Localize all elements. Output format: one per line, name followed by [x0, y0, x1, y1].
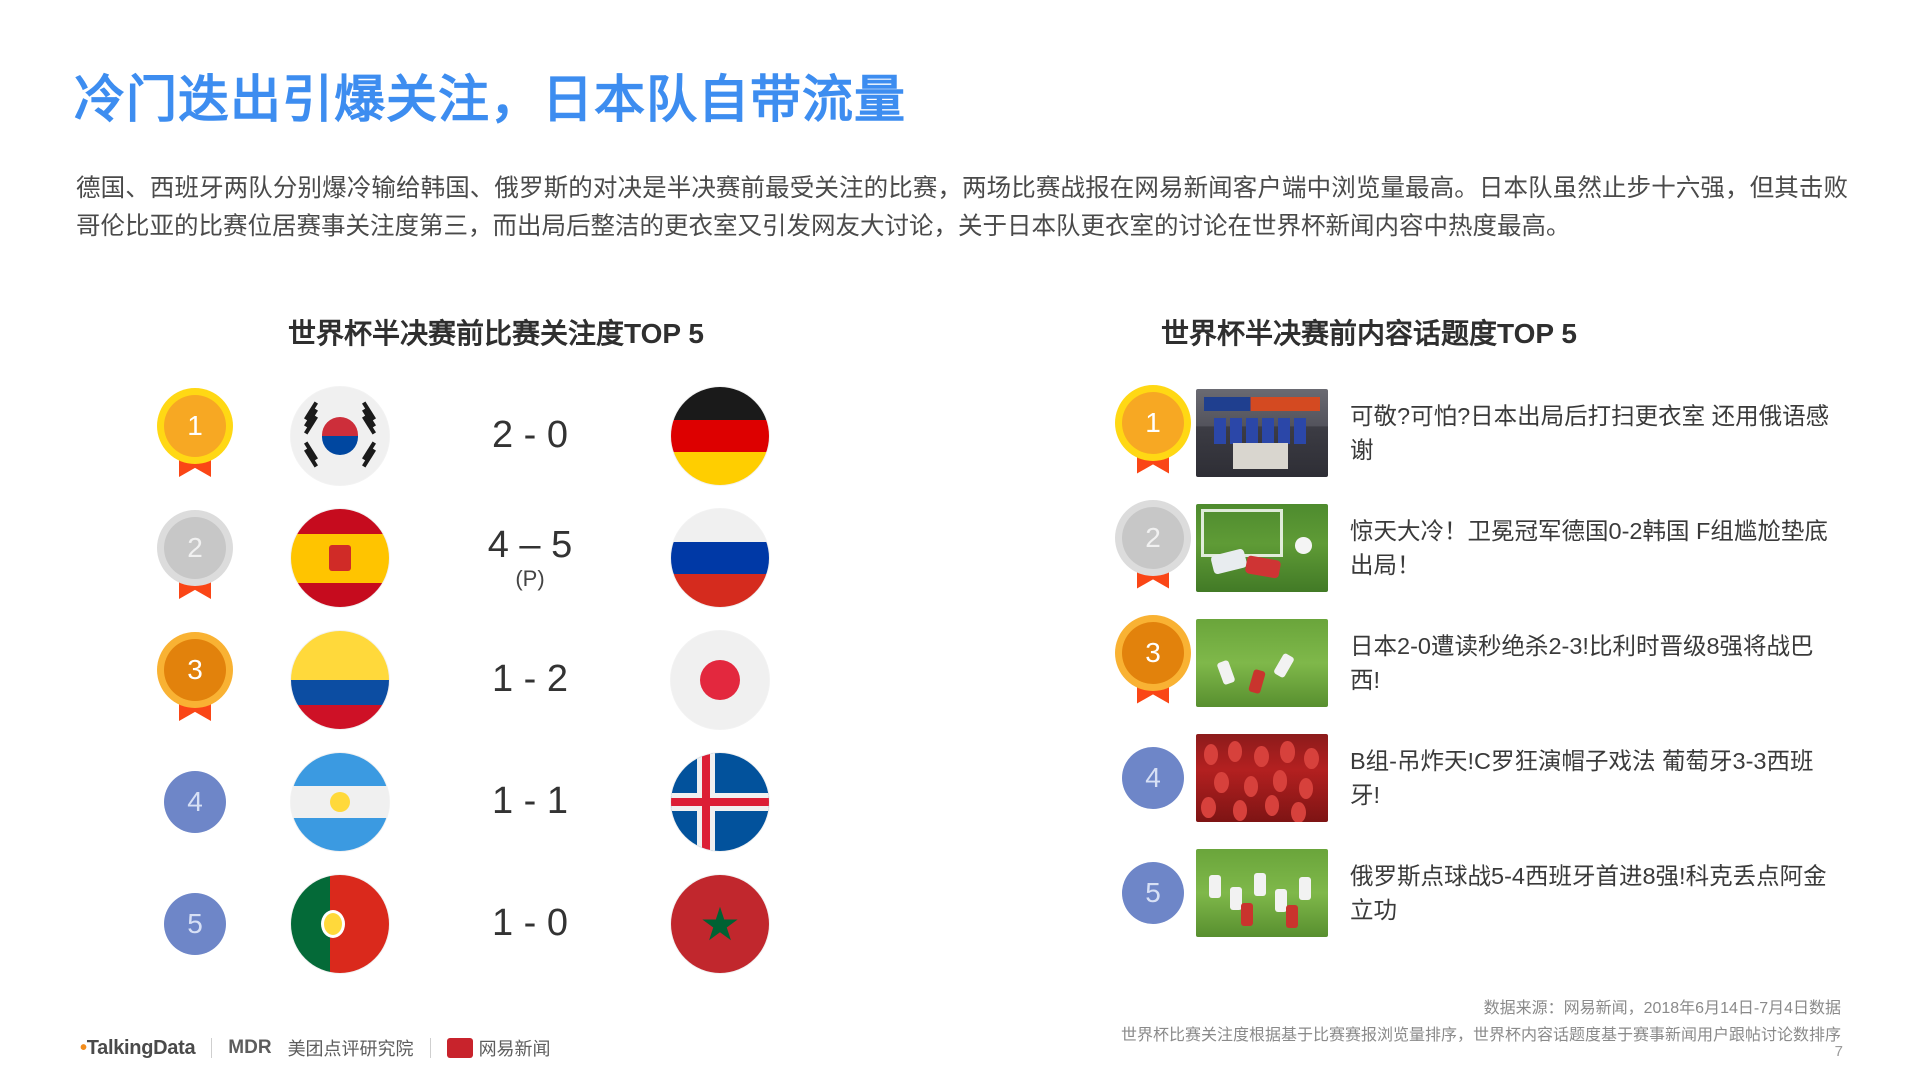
home-flag-cell [250, 387, 430, 485]
intro-paragraph: 德国、西班牙两队分别爆冷输给韩国、俄罗斯的对决是半决赛前最受关注的比赛，两场比赛… [76, 170, 1848, 246]
away-flag-cell [630, 631, 810, 729]
news-thumbnail-red-crowd [1196, 734, 1328, 822]
rank-number: 2 [164, 517, 226, 579]
divider [430, 1038, 431, 1058]
logo-meituan-research: 美团点评研究院 [288, 1035, 414, 1061]
rank-cell: 2 [140, 517, 250, 599]
page-title: 冷门迭出引爆关注，日本队自带流量 [74, 58, 906, 132]
flag-icon-argentina [291, 753, 389, 851]
news-thumbnail-locker-room [1196, 389, 1328, 477]
list-item[interactable]: 1 可敬?可怕?日本出局后打扫更衣室 还用俄语感谢 [1110, 375, 1870, 490]
match-row: 3 1 - 2 [140, 619, 900, 741]
match-attention-list: 1 2 - 0 [140, 375, 900, 985]
flag-icon-colombia [291, 631, 389, 729]
rank-cell: 3 [140, 639, 250, 721]
slide-root: 冷门迭出引爆关注，日本队自带流量 德国、西班牙两队分别爆冷输给韩国、俄罗斯的对决… [0, 0, 1921, 1080]
rank-cell: 4 [140, 771, 250, 833]
flag-icon-russia [671, 509, 769, 607]
rank-badge-plain: 4 [1122, 747, 1184, 809]
rank-cell: 5 [1110, 862, 1196, 924]
divider [211, 1038, 212, 1058]
medal-icon-silver: 2 [1122, 507, 1184, 589]
score-cell: 2 - 0 [430, 416, 630, 456]
flag-icon-germany [671, 387, 769, 485]
medal-icon-bronze: 3 [164, 639, 226, 721]
right-section-heading: 世界杯半决赛前内容话题度TOP 5 [1161, 312, 1577, 352]
home-flag-cell [250, 631, 430, 729]
away-flag-cell [630, 509, 810, 607]
news-headline[interactable]: B组-吊炸天!C罗狂演帽子戏法 葡萄牙3-3西班牙! [1350, 744, 1830, 812]
news-thumbnail-celebration [1196, 849, 1328, 937]
match-row: 4 1 - 1 [140, 741, 900, 863]
away-flag-cell [630, 387, 810, 485]
news-headline[interactable]: 俄罗斯点球战5-4西班牙首进8强!科克丢点阿金立功 [1350, 859, 1830, 927]
medal-icon-bronze: 3 [1122, 622, 1184, 704]
news-thumbnail-pitch-tackle [1196, 619, 1328, 707]
flag-icon-spain [291, 509, 389, 607]
medal-icon-gold: 1 [164, 395, 226, 477]
list-item[interactable]: 3 日本2-0遭读秒绝杀2-3!比利时晋级8强将战巴西! [1110, 605, 1870, 720]
rank-cell: 1 [1110, 392, 1196, 474]
score-cell: 1 - 1 [430, 782, 630, 822]
rank-number: 1 [164, 395, 226, 457]
news-headline[interactable]: 惊天大冷！卫冕冠军德国0-2韩国 F组尴尬垫底出局！ [1350, 514, 1830, 582]
rank-badge-plain: 5 [164, 893, 226, 955]
news-thumbnail-goal-save [1196, 504, 1328, 592]
home-flag-cell [250, 875, 430, 973]
score-cell: 1 - 2 [430, 660, 630, 700]
score-cell: 1 - 0 [430, 904, 630, 944]
rank-number: 3 [164, 639, 226, 701]
rank-cell: 2 [1110, 507, 1196, 589]
home-flag-cell [250, 509, 430, 607]
rank-cell: 5 [140, 893, 250, 955]
score-value: 2 - 0 [492, 414, 568, 456]
source-line-1: 数据来源：网易新闻，2018年6月14日-7月4日数据 [1121, 995, 1841, 1022]
rank-cell: 1 [140, 395, 250, 477]
news-headline[interactable]: 可敬?可怕?日本出局后打扫更衣室 还用俄语感谢 [1350, 399, 1830, 467]
match-row: 1 2 - 0 [140, 375, 900, 497]
rank-number: 3 [1122, 622, 1184, 684]
flag-icon-morocco: ★ [671, 875, 769, 973]
page-number: 7 [1835, 1043, 1843, 1060]
rank-badge-plain: 5 [1122, 862, 1184, 924]
left-section-heading: 世界杯半决赛前比赛关注度TOP 5 [288, 312, 704, 352]
score-note: (P) [430, 567, 630, 590]
rank-cell: 3 [1110, 622, 1196, 704]
netease-label: 网易新闻 [479, 1035, 551, 1061]
logo-netease-news: 网易新闻 [447, 1035, 551, 1061]
score-value: 4 – 5 [488, 524, 573, 566]
news-headline[interactable]: 日本2-0遭读秒绝杀2-3!比利时晋级8强将战巴西! [1350, 629, 1830, 697]
match-row: 2 4 – 5 (P) [140, 497, 900, 619]
flag-icon-japan [671, 631, 769, 729]
away-flag-cell: ★ [630, 875, 810, 973]
medal-icon-silver: 2 [164, 517, 226, 599]
flag-icon-portugal [291, 875, 389, 973]
score-cell: 4 – 5 (P) [430, 526, 630, 591]
brand-bar: •TalkingData MDR 美团点评研究院 网易新闻 [80, 1035, 551, 1061]
rank-number: 1 [1122, 392, 1184, 454]
netease-mark [447, 1038, 473, 1058]
list-item[interactable]: 5 俄罗斯点球战5-4西班牙首进8强!科克丢点阿金立功 [1110, 835, 1870, 950]
match-row: 5 1 - 0 ★ [140, 863, 900, 985]
talkingdata-mark: • [80, 1037, 87, 1059]
logo-mdr: MDR [228, 1037, 271, 1059]
talkingdata-label: TalkingData [87, 1037, 196, 1059]
home-flag-cell [250, 753, 430, 851]
flag-icon-iceland [671, 753, 769, 851]
news-topic-list: 1 可敬?可怕?日本出局后打扫更衣室 还用俄语感谢 2 [1110, 375, 1870, 950]
flag-icon-south-korea [291, 387, 389, 485]
source-line-2: 世界杯比赛关注度根据基于比赛赛报浏览量排序，世界杯内容话题度基于赛事新闻用户跟帖… [1121, 1022, 1841, 1049]
rank-badge-plain: 4 [164, 771, 226, 833]
score-value: 1 - 0 [492, 902, 568, 944]
score-value: 1 - 1 [492, 780, 568, 822]
list-item[interactable]: 2 惊天大冷！卫冕冠军德国0-2韩国 F组尴尬垫底出局！ [1110, 490, 1870, 605]
away-flag-cell [630, 753, 810, 851]
medal-icon-gold: 1 [1122, 392, 1184, 474]
score-value: 1 - 2 [492, 658, 568, 700]
source-note: 数据来源：网易新闻，2018年6月14日-7月4日数据 世界杯比赛关注度根据基于… [1121, 995, 1841, 1049]
rank-cell: 4 [1110, 747, 1196, 809]
list-item[interactable]: 4 B组-吊炸天!C罗狂演帽子戏法 葡萄牙3-3西班牙! [1110, 720, 1870, 835]
logo-talkingdata: •TalkingData [80, 1037, 195, 1060]
rank-number: 2 [1122, 507, 1184, 569]
